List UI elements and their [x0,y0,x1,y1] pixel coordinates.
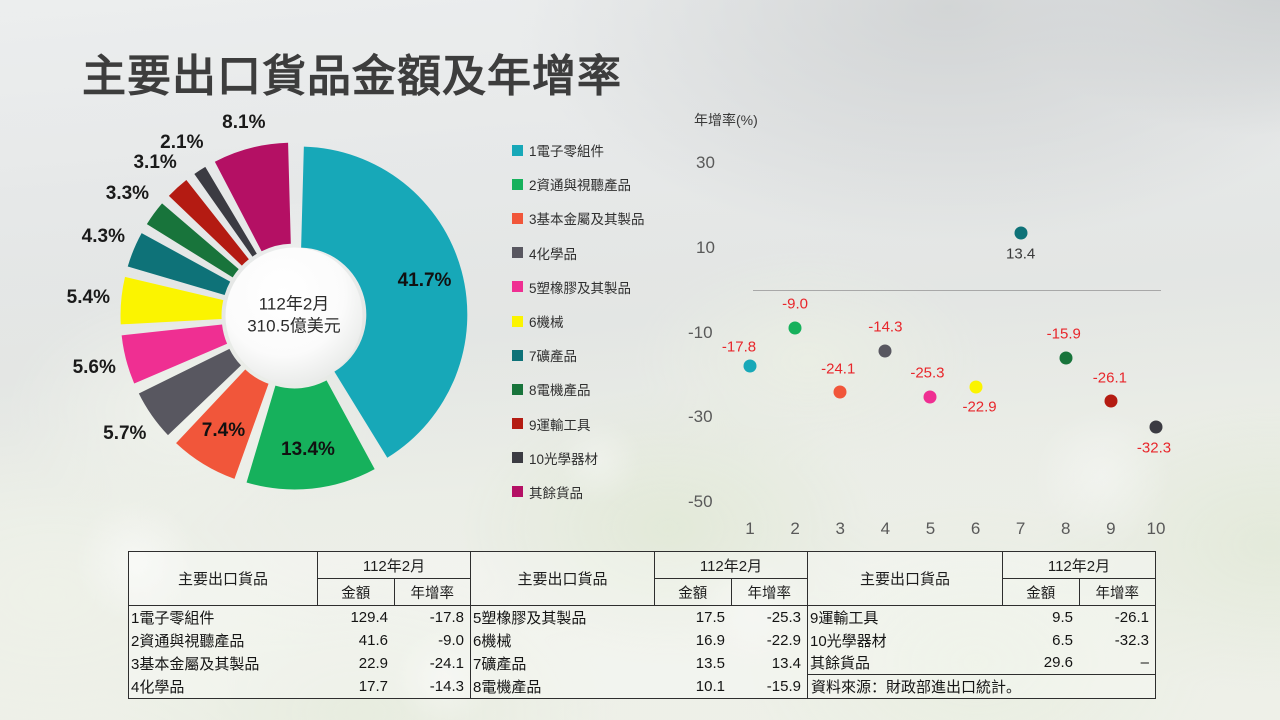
table-body: 9運輸工具9.5-26.110光學器材6.5-32.3其餘貨品29.6–資料來源… [808,606,1155,698]
scatter-point [1014,227,1027,240]
table-cell-rate: -26.1 [1079,609,1155,626]
donut-segment-label: 3.1% [133,152,176,174]
scatter-y-axis-title: 年增率(%) [694,110,758,130]
donut-segment-label: 13.4% [281,439,335,461]
table-cell-product: 4化學品 [129,676,318,697]
table-cell-product: 7礦產品 [471,653,655,674]
chart-legend: 1電子零組件2資通與視聽產品3基本金屬及其製品4化學品5塑橡膠及其製品6機械7礦… [512,133,687,509]
donut-segment-label: 3.3% [106,183,149,205]
scatter-point-label: -14.3 [868,318,902,335]
table-block: 主要出口貨品112年2月金額年增率5塑橡膠及其製品17.5-25.36機械16.… [470,551,807,699]
scatter-point [744,359,757,372]
donut-segment-label: 7.4% [202,420,245,442]
legend-item[interactable]: 10光學器材 [512,441,687,475]
legend-item[interactable]: 4化學品 [512,236,687,270]
table-cell-rate: -15.9 [731,678,807,695]
table-cell-rate: -25.3 [731,609,807,626]
scatter-x-tick-label: 10 [1147,519,1166,539]
table-row: 1電子零組件129.4-17.8 [129,606,470,629]
donut-center-line1: 112年2月 [247,294,341,316]
table-cell-rate: -24.1 [394,655,470,672]
table-cell-amount: 17.7 [318,678,394,695]
legend-swatch-icon [512,316,523,327]
legend-item-label: 其餘貨品 [529,482,583,502]
table-cell-rate: -32.3 [1079,632,1155,649]
table-cell-amount: 129.4 [318,609,394,626]
table-cell-rate: -14.3 [394,678,470,695]
scatter-point [879,344,892,357]
scatter-y-tick-label: 10 [696,238,715,258]
table-cell-amount: 10.1 [655,678,731,695]
scatter-point [1104,394,1117,407]
table-cell-rate: -9.0 [394,632,470,649]
scatter-point [789,322,802,335]
scatter-point-label: -32.3 [1137,439,1171,456]
legend-swatch-icon [512,247,523,258]
table-body: 5塑橡膠及其製品17.5-25.36機械16.9-22.97礦產品13.513.… [471,606,807,698]
table-row: 3基本金屬及其製品22.9-24.1 [129,652,470,675]
table-header-product: 主要出口貨品 [129,552,318,605]
legend-item[interactable]: 2資通與視聽產品 [512,167,687,201]
scatter-point [969,381,982,394]
donut-segment-label: 5.6% [73,357,116,379]
scatter-point-label: 13.4 [1006,246,1035,263]
table-cell-product: 9運輸工具 [808,607,1003,628]
donut-center-text: 112年2月 310.5億美元 [247,294,341,339]
table-cell-rate: -17.8 [394,609,470,626]
table-row: 10光學器材6.5-32.3 [808,629,1155,652]
scatter-x-tick-label: 6 [971,519,980,539]
legend-item-label: 2資通與視聽產品 [529,174,631,194]
table-block: 主要出口貨品112年2月金額年增率1電子零組件129.4-17.82資通與視聽產… [128,551,470,699]
table-header-amount: 金額 [655,579,732,605]
table-header-rate: 年增率 [395,579,471,605]
table-header-period: 112年2月 [655,552,807,579]
scatter-point-label: -9.0 [782,296,808,313]
table-row: 4化學品17.7-14.3 [129,675,470,698]
donut-segment-label: 41.7% [398,270,452,292]
legend-swatch-icon [512,384,523,395]
legend-swatch-icon [512,486,523,497]
scatter-y-tick-label: -50 [688,492,713,512]
scatter-point [834,386,847,399]
table-block: 主要出口貨品112年2月金額年增率9運輸工具9.5-26.110光學器材6.5-… [807,551,1156,699]
legend-item-label: 5塑橡膠及其製品 [529,277,631,297]
scatter-point [924,391,937,404]
page-title: 主要出口貨品金額及年增率 [82,40,622,104]
scatter-point [1150,420,1163,433]
scatter-point-label: -22.9 [962,399,996,416]
table-header-period: 112年2月 [318,552,470,579]
table-source-note: 資料來源：財政部進出口統計。 [808,674,1155,698]
scatter-point [1059,351,1072,364]
scatter-y-tick-label: -10 [688,323,713,343]
legend-item-label: 9運輸工具 [529,414,591,434]
donut-segment-label: 4.3% [82,226,125,248]
scatter-x-tick-label: 3 [835,519,844,539]
scatter-point-label: -17.8 [722,338,756,355]
legend-swatch-icon [512,452,523,463]
table-row: 7礦產品13.513.4 [471,652,807,675]
table-body: 1電子零組件129.4-17.82資通與視聽產品41.6-9.03基本金屬及其製… [129,606,470,698]
scatter-x-tick-label: 8 [1061,519,1070,539]
legend-swatch-icon [512,350,523,361]
legend-item-label: 7礦產品 [529,345,577,365]
table-header: 主要出口貨品112年2月金額年增率 [808,552,1155,606]
legend-swatch-icon [512,281,523,292]
donut-center-line2: 310.5億美元 [247,316,341,338]
table-cell-product: 2資通與視聽產品 [129,630,318,651]
legend-item-label: 6機械 [529,311,564,331]
table-cell-product: 其餘貨品 [808,652,1003,673]
donut-segment-label: 8.1% [222,112,265,134]
table-cell-rate: – [1079,654,1155,671]
legend-item[interactable]: 1電子零組件 [512,133,687,167]
table-cell-amount: 13.5 [655,655,731,672]
table-cell-amount: 22.9 [318,655,394,672]
scatter-y-tick-label: 30 [696,153,715,173]
table-header-amount: 金額 [1003,579,1080,605]
legend-swatch-icon [512,145,523,156]
table-row: 5塑橡膠及其製品17.5-25.3 [471,606,807,629]
donut-segment-label: 5.7% [103,423,146,445]
table-row: 6機械16.9-22.9 [471,629,807,652]
legend-swatch-icon [512,213,523,224]
table-cell-product: 8電機產品 [471,676,655,697]
legend-item[interactable]: 其餘貨品 [512,475,687,509]
table-header: 主要出口貨品112年2月金額年增率 [129,552,470,606]
legend-item[interactable]: 8電機產品 [512,372,687,406]
scatter-point-label: -26.1 [1093,369,1127,386]
legend-item[interactable]: 7礦產品 [512,338,687,372]
legend-item[interactable]: 3基本金屬及其製品 [512,201,687,235]
table-header: 主要出口貨品112年2月金額年增率 [471,552,807,606]
table-header-product: 主要出口貨品 [808,552,1003,605]
table-cell-amount: 6.5 [1003,632,1079,649]
data-table: 主要出口貨品112年2月金額年增率1電子零組件129.4-17.82資通與視聽產… [128,551,1156,699]
legend-swatch-icon [512,179,523,190]
table-row: 2資通與視聽產品41.6-9.0 [129,629,470,652]
donut-segment-label: 2.1% [160,132,203,154]
table-row: 8電機產品10.1-15.9 [471,675,807,698]
scatter-y-tick-label: -30 [688,407,713,427]
table-cell-amount: 16.9 [655,632,731,649]
table-cell-amount: 17.5 [655,609,731,626]
legend-item-label: 8電機產品 [529,379,591,399]
legend-item-label: 4化學品 [529,243,577,263]
donut-segment-label: 5.4% [67,287,110,309]
scatter-x-tick-label: 5 [926,519,935,539]
legend-item-label: 1電子零組件 [529,140,604,160]
table-header-rate: 年增率 [1080,579,1156,605]
scatter-x-tick-label: 1 [745,519,754,539]
scatter-x-tick-label: 2 [790,519,799,539]
legend-item[interactable]: 6機械 [512,304,687,338]
legend-item[interactable]: 5塑橡膠及其製品 [512,270,687,304]
table-cell-rate: -22.9 [731,632,807,649]
table-cell-product: 3基本金屬及其製品 [129,653,318,674]
scatter-point-label: -15.9 [1047,325,1081,342]
table-cell-amount: 9.5 [1003,609,1079,626]
table-cell-product: 6機械 [471,630,655,651]
scatter-zero-line [753,290,1161,291]
legend-item-label: 10光學器材 [529,448,598,468]
legend-item-label: 3基本金屬及其製品 [529,208,645,228]
legend-swatch-icon [512,418,523,429]
scatter-point-label: -25.3 [910,365,944,382]
table-row: 9運輸工具9.5-26.1 [808,606,1155,629]
table-header-product: 主要出口貨品 [471,552,655,605]
table-header-period: 112年2月 [1003,552,1155,579]
table-cell-amount: 41.6 [318,632,394,649]
table-header-amount: 金額 [318,579,395,605]
table-cell-product: 10光學器材 [808,630,1003,651]
scatter-x-tick-label: 4 [881,519,890,539]
table-cell-product: 5塑橡膠及其製品 [471,607,655,628]
table-cell-amount: 29.6 [1003,654,1079,671]
table-row: 其餘貨品29.6– [808,652,1155,675]
table-cell-rate: 13.4 [731,655,807,672]
scatter-point-label: -24.1 [821,361,855,378]
scatter-chart: 年增率(%) 3010-10-30-50 12345678910 -17.8-9… [688,108,1168,538]
scatter-x-tick-label: 7 [1016,519,1025,539]
donut-chart: 41.7%13.4%7.4%5.7%5.6%5.4%4.3%3.3%3.1%2.… [108,128,480,504]
legend-item[interactable]: 9運輸工具 [512,407,687,441]
table-header-rate: 年增率 [732,579,808,605]
table-cell-product: 1電子零組件 [129,607,318,628]
scatter-x-tick-label: 9 [1106,519,1115,539]
